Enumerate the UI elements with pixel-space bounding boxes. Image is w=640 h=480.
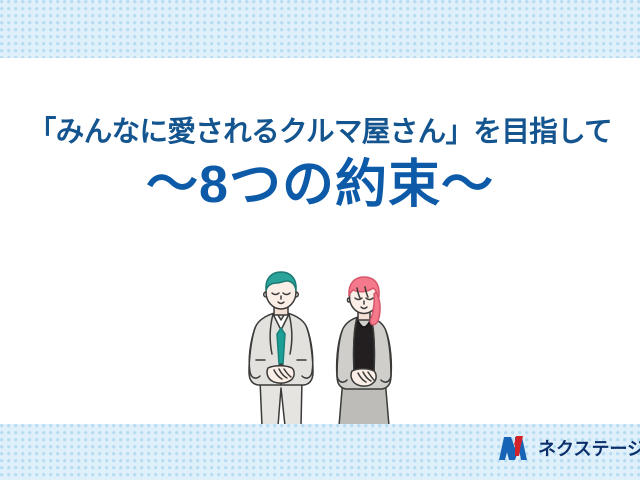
top-dotted-band (0, 0, 640, 58)
nextage-wordmark: ネクステージ (538, 440, 640, 458)
page-subtitle: 〜8つの約束〜 (0, 159, 640, 211)
two-staff-bowing-illustration (236, 268, 426, 434)
headline-block: 「みんなに愛されるクルマ屋さん」を目指して 〜8つの約束〜 (0, 118, 640, 211)
female-staff-figure (337, 277, 392, 426)
staff-illustration-svg (236, 268, 426, 434)
nextage-logo: ネクステージ (497, 436, 640, 461)
promo-banner: 「みんなに愛されるクルマ屋さん」を目指して 〜8つの約束〜 (0, 0, 640, 480)
nextage-n-mark-icon (497, 436, 531, 461)
male-staff-figure (249, 272, 313, 426)
page-title: 「みんなに愛されるクルマ屋さん」を目指して (0, 118, 640, 147)
